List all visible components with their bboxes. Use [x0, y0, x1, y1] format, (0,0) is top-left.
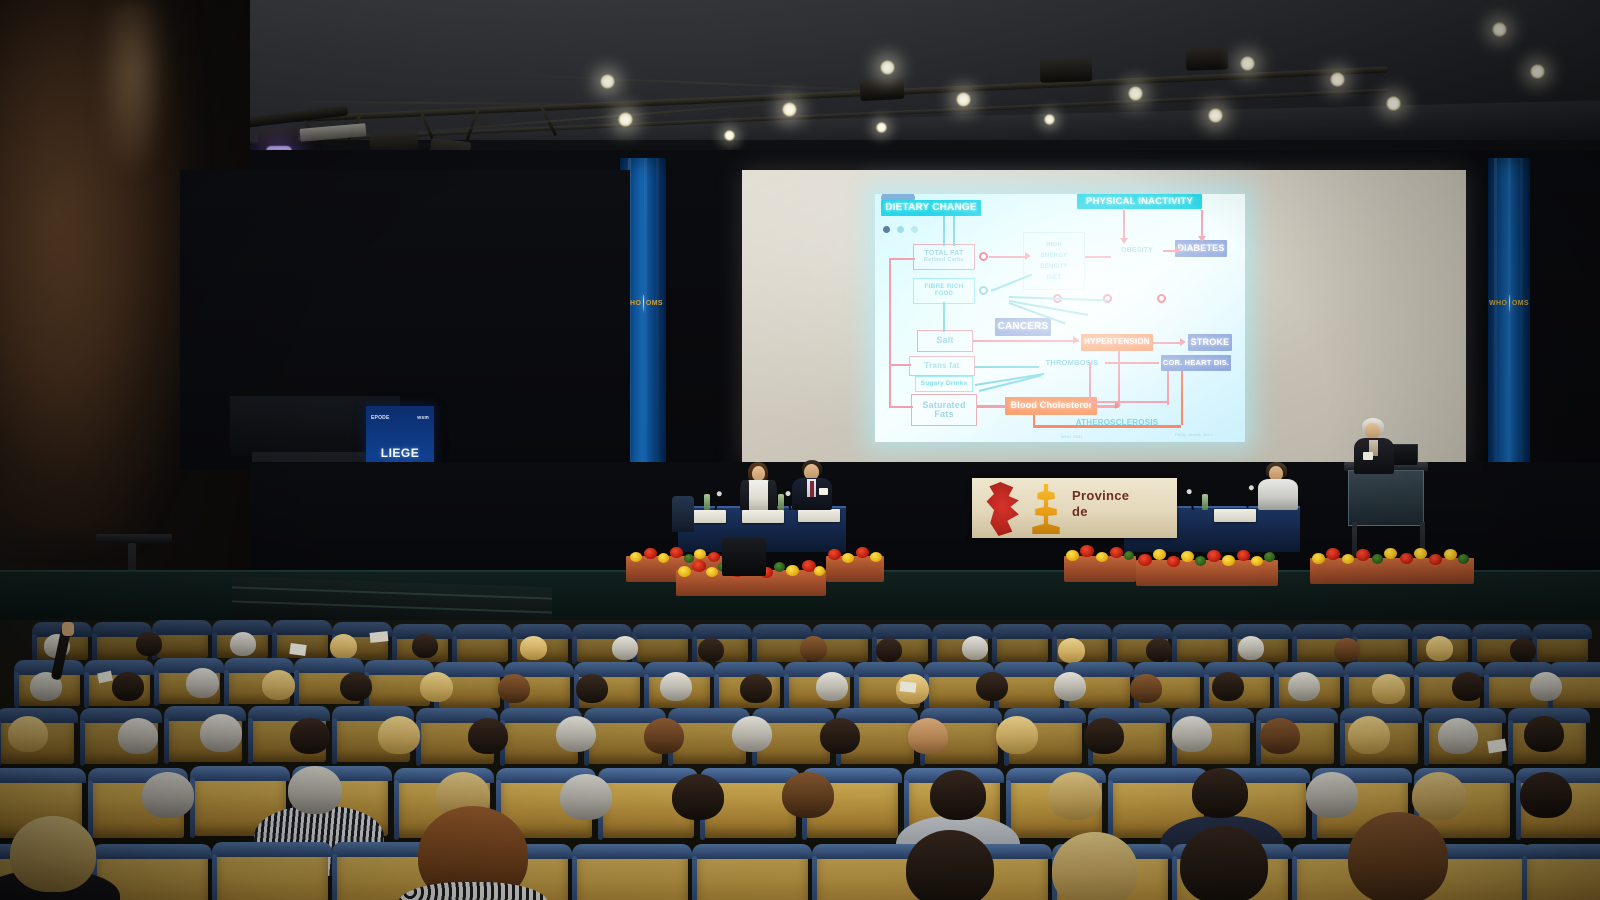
province-banner: Province de — [972, 478, 1177, 538]
panelist-woman — [738, 462, 778, 510]
lion-emblem-icon — [982, 482, 1028, 536]
spotlight — [782, 102, 797, 117]
who-emblem-right: WHO OMS — [1489, 288, 1529, 318]
audience-head — [290, 718, 330, 754]
flower-bed — [1136, 546, 1278, 572]
slide-connector — [1167, 371, 1169, 405]
programme-paper — [1487, 739, 1507, 754]
raised-hand — [62, 622, 74, 636]
audience-head — [644, 718, 684, 754]
slide-box-hypertension: HYPERTENSION — [1081, 334, 1153, 351]
slide-header-dietary-change: DIETARY CHANGE — [881, 200, 981, 216]
projected-slide: DIETARY CHANGE PHYSICAL INACTIVITY TOTAL… — [875, 194, 1245, 442]
slide-dot — [911, 226, 918, 233]
audience-head — [1192, 768, 1248, 818]
slide-node — [979, 286, 988, 295]
spotlight — [1128, 86, 1143, 101]
audience-head — [1412, 772, 1466, 820]
audience-head — [1524, 716, 1564, 752]
audience-head — [412, 634, 438, 658]
audience-head — [186, 668, 219, 698]
name-placard — [798, 509, 840, 522]
oms-label: OMS — [646, 300, 663, 307]
slide-connector — [989, 256, 1027, 258]
water-bottle — [1202, 494, 1208, 510]
slide-box-atherosclerosis: ATHEROSCLEROSIS — [1071, 416, 1163, 431]
slide-connector — [1118, 351, 1120, 407]
audience-head — [732, 716, 772, 752]
slide-node — [979, 252, 988, 261]
panelist-badge — [819, 488, 828, 495]
spotlight — [880, 60, 895, 75]
audience-head — [820, 718, 860, 754]
spotlight — [618, 112, 633, 127]
audience-head — [556, 716, 596, 752]
speaker-face — [1365, 423, 1380, 439]
panelist-jacket-right — [768, 480, 777, 510]
programme-paper — [289, 643, 306, 656]
slide-connector — [889, 258, 891, 406]
slide-connector — [943, 302, 945, 332]
audience-head — [740, 674, 772, 703]
panelist-tie — [810, 481, 814, 497]
audience-head — [1348, 716, 1390, 754]
audience-head — [520, 636, 547, 660]
side-table-top — [96, 534, 172, 543]
spotlight — [724, 130, 735, 141]
slide-connector — [943, 216, 945, 246]
stage-light-fixture — [1040, 57, 1093, 83]
audience-head — [782, 772, 834, 818]
audience-head — [1520, 772, 1572, 818]
rollup-logo-left: EPODE — [371, 415, 390, 421]
slide-connector — [977, 405, 1007, 408]
audience-head-front — [1052, 832, 1138, 900]
audience-head — [612, 636, 638, 660]
rollup-top-logos: EPODE wsm — [371, 412, 429, 424]
spotlight — [1530, 64, 1545, 79]
audience-head — [1146, 638, 1172, 662]
audience-head — [230, 632, 256, 656]
audience-head — [330, 634, 357, 659]
slide-box-cancers: CANCERS — [995, 318, 1051, 336]
slide-connector — [1089, 362, 1091, 402]
slide-box-high-energy-frame — [1023, 232, 1085, 290]
audience-head — [468, 718, 508, 754]
slide-dot — [883, 226, 890, 233]
audience-head — [1530, 672, 1562, 701]
who-globe-icon — [1509, 295, 1510, 312]
water-bottle — [778, 494, 784, 510]
audience-head — [876, 638, 902, 662]
slide-box-fibre-label: FIBRE RICH — [924, 284, 963, 291]
audience-head-front — [906, 830, 994, 900]
audience-head — [1084, 718, 1124, 754]
slide-connector — [1033, 415, 1035, 425]
slide-header-physical-inactivity: PHYSICAL INACTIVITY — [1077, 194, 1202, 209]
slide-connector — [1181, 371, 1183, 425]
spotlight — [1330, 72, 1345, 87]
audience-head — [498, 674, 530, 703]
panelist-jacket-left — [740, 480, 749, 510]
stage-equipment-case — [722, 538, 766, 576]
spotlight — [876, 122, 887, 133]
who-curtain-banner-right: WHO OMS — [1488, 158, 1530, 510]
slide-connector — [975, 366, 1039, 368]
audience-head — [1438, 718, 1478, 754]
slide-arrow — [1025, 252, 1031, 260]
slide-box-total-fat: TOTAL FAT Refined Carbs — [913, 244, 975, 270]
audience-head — [1212, 672, 1244, 701]
slide-node — [1157, 294, 1166, 303]
perron-emblem-icon — [1028, 484, 1064, 534]
audience-head — [378, 716, 420, 754]
rollup-logo-right: wsm — [417, 415, 429, 421]
audience-head — [340, 672, 372, 701]
panel-chair — [672, 496, 694, 532]
audience-head — [136, 632, 162, 656]
slide-box-stroke: STROKE — [1188, 334, 1232, 351]
slide-credit-left: WHO 2011 — [1061, 434, 1083, 439]
slide-box-total-fat-sub: Refined Carbs — [924, 258, 964, 264]
foreground-head-rim-light — [96, 0, 168, 180]
audience-head — [288, 766, 342, 814]
slide-box-thrombosis: THROMBOSIS — [1039, 356, 1105, 370]
audience-head — [800, 636, 827, 661]
audience-head — [142, 772, 194, 818]
slide-connector — [1105, 362, 1159, 364]
flower-bed — [826, 543, 884, 569]
stage-light-fixture — [1186, 47, 1229, 70]
name-placard — [742, 510, 784, 523]
audience-head — [118, 718, 158, 754]
spotlight — [1044, 114, 1055, 125]
slide-connector — [889, 258, 915, 260]
slide-connector — [1089, 401, 1169, 403]
panelist-face — [752, 466, 765, 481]
audience-head — [1058, 638, 1085, 663]
slide-connector — [889, 406, 913, 408]
slide-arrow — [1180, 338, 1186, 346]
oms-label: OMS — [1512, 300, 1529, 307]
audience-head — [1260, 718, 1300, 754]
audience-head — [698, 638, 724, 662]
audience-head — [962, 636, 988, 660]
audience-head — [930, 770, 986, 820]
spotlight — [1240, 56, 1255, 71]
audience-area — [0, 620, 1600, 900]
audience-head — [1238, 636, 1264, 660]
spotlight — [1208, 108, 1223, 123]
audience-head — [1510, 638, 1536, 662]
slide-connector — [1085, 256, 1111, 258]
audience-head — [560, 774, 612, 820]
province-banner-line2: de — [1072, 504, 1129, 520]
audience-head — [420, 672, 453, 702]
who-label: WHO — [1489, 300, 1507, 307]
audience-head — [996, 716, 1038, 754]
slide-dot — [897, 226, 904, 233]
spotlight — [1492, 22, 1507, 37]
province-banner-line1: Province — [1072, 488, 1129, 504]
slide-arrow — [1073, 336, 1079, 344]
spotlight — [956, 92, 971, 107]
flower-bed — [1310, 544, 1474, 570]
slide-box-saturated-fats: Saturated Fats — [911, 394, 977, 426]
slide-connector — [889, 364, 911, 366]
slide-connector — [953, 216, 955, 246]
province-banner-text: Province de — [1072, 488, 1129, 520]
audience-head — [672, 774, 724, 820]
name-placard — [1214, 509, 1256, 522]
audience-head — [262, 670, 295, 700]
panelist-man-right — [1256, 462, 1300, 510]
auditorium-photo: DIETARY CHANGE PHYSICAL INACTIVITY TOTAL… — [0, 0, 1600, 900]
audience-head — [1372, 674, 1405, 704]
speaker-badge — [1363, 452, 1373, 460]
slide-box-salt: Salt — [917, 330, 973, 352]
stage-light-fixture — [859, 77, 904, 101]
slide-arrow — [1120, 238, 1128, 244]
audience-head — [1426, 636, 1453, 661]
slide-connector — [1123, 210, 1125, 240]
slide-box-obesity: OBESITY — [1113, 244, 1161, 258]
audience-head — [1048, 772, 1102, 820]
panelist-man — [790, 460, 834, 510]
audience-head — [8, 716, 48, 752]
audience-head — [1130, 674, 1162, 703]
slide-arrow — [1175, 246, 1181, 254]
audience-head — [1288, 672, 1320, 701]
programme-paper — [900, 681, 917, 693]
panelist-shirt — [1258, 479, 1298, 510]
lectern-glass-panel — [1348, 470, 1424, 526]
audience-head — [1054, 672, 1086, 701]
audience-head — [1172, 716, 1212, 752]
slide-connector — [973, 340, 1079, 342]
slide-box-cor-heart-dis: COR. HEART DIS. — [1161, 355, 1231, 371]
audience-head — [576, 674, 608, 703]
slide-box-blood-cholesterol: Blood Cholesterol — [1005, 397, 1097, 415]
water-bottle — [704, 494, 710, 510]
slide-arrow — [1198, 236, 1206, 242]
audience-head — [1334, 638, 1360, 662]
audience-head — [1452, 672, 1484, 701]
audience-head — [112, 672, 144, 701]
who-globe-icon — [643, 295, 644, 312]
spotlight — [600, 74, 615, 89]
audience-head — [976, 672, 1008, 701]
audience-head — [200, 714, 242, 752]
slide-box-diabetes: DIABETES — [1175, 240, 1227, 257]
audience-head — [660, 672, 692, 701]
audience-head-front — [1348, 812, 1448, 900]
slide-box-fibre-sub: FOOD — [935, 291, 953, 297]
slide-connector — [1153, 342, 1183, 344]
slide-box-fibre: FIBRE RICH FOOD — [913, 278, 975, 304]
audience-head — [908, 718, 948, 754]
audience-head — [1306, 772, 1358, 818]
slide-credit-right: Philip James 2011 — [1175, 432, 1213, 437]
audience-head — [816, 672, 848, 701]
spotlight — [1386, 96, 1401, 111]
slide-connector — [1201, 210, 1203, 238]
programme-paper — [370, 631, 389, 643]
audience-head-front — [10, 816, 96, 892]
flower-bed — [1064, 542, 1136, 568]
podium-speaker — [1352, 418, 1396, 474]
slide-box-sugar: Sugary Drinks — [915, 376, 973, 392]
slide-box-trans-fat: Trans fat — [909, 356, 975, 376]
slide-connector — [1033, 425, 1181, 428]
audience-head-front — [1180, 826, 1268, 900]
